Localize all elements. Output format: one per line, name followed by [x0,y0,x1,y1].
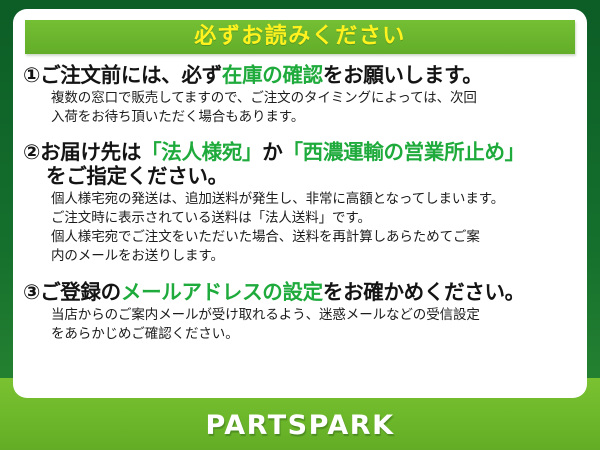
item-3-heading-highlight: メールアドレスの設定 [121,280,323,304]
item-2-heading-part-1: お届け先は [40,140,141,164]
notice-item-1: ①ご注文前には、必ず在庫の確認をお願いします。 複数の窓口で販売してますので、ご… [13,63,587,128]
item-2-heading-line2: をご指定ください。 [23,164,579,188]
item-3-heading-part-1: ご登録の [40,280,121,304]
notice-header-banner: 必ずお読みください [25,20,575,54]
item-1-body: 複数の窓口で販売してますので、ご注文のタイミングによっては、次回 入荷をお待ち頂… [23,89,579,127]
item-2-heading-highlight-2: 「西濃運輸の営業所止め」 [282,140,524,164]
item-2-body: 個人様宅宛の発送は、追加送料が発生し、非常に高額となってしまいます。 ご注文時に… [23,190,579,267]
notice-title: 必ずお読みください [194,26,406,48]
notice-item-3: ③ご登録のメールアドレスの設定をお確かめください。 当店からのご案内メールが受け… [13,280,587,345]
item-2-marker: ② [23,140,40,164]
notice-card: 必ずお読みください ①ご注文前には、必ず在庫の確認をお願いします。 複数の窓口で… [13,9,587,398]
item-3-body: 当店からのご案内メールが受け取れるよう、迷惑メールなどの受信設定 をあらかじめご… [23,306,579,344]
item-2-heading: ②お届け先は「法人様宛」か「西濃運輸の営業所止め」 [23,140,579,164]
notice-items-list: ①ご注文前には、必ず在庫の確認をお願いします。 複数の窓口で販売してますので、ご… [13,63,587,344]
notice-item-2: ②お届け先は「法人様宛」か「西濃運輸の営業所止め」 をご指定ください。 個人様宅… [13,140,587,267]
item-1-heading-part-1: ご注文前には、必ず [40,63,222,87]
item-3-heading: ③ご登録のメールアドレスの設定をお確かめください。 [23,280,579,304]
item-1-heading-part-3: をお願いします。 [323,63,483,87]
item-3-heading-part-3: をお確かめください。 [323,280,525,304]
item-2-heading-part-3: か [262,140,282,164]
item-1-marker: ① [23,63,40,87]
item-1-heading-highlight: 在庫の確認 [222,63,323,87]
notice-frame: 必ずお読みください ①ご注文前には、必ず在庫の確認をお願いします。 複数の窓口で… [0,0,600,450]
item-1-heading: ①ご注文前には、必ず在庫の確認をお願いします。 [23,63,579,87]
footer-brand-logo: PARTSPARK [0,410,600,441]
item-3-marker: ③ [23,280,40,304]
item-2-heading-highlight-1: 「法人様宛」 [141,140,262,164]
